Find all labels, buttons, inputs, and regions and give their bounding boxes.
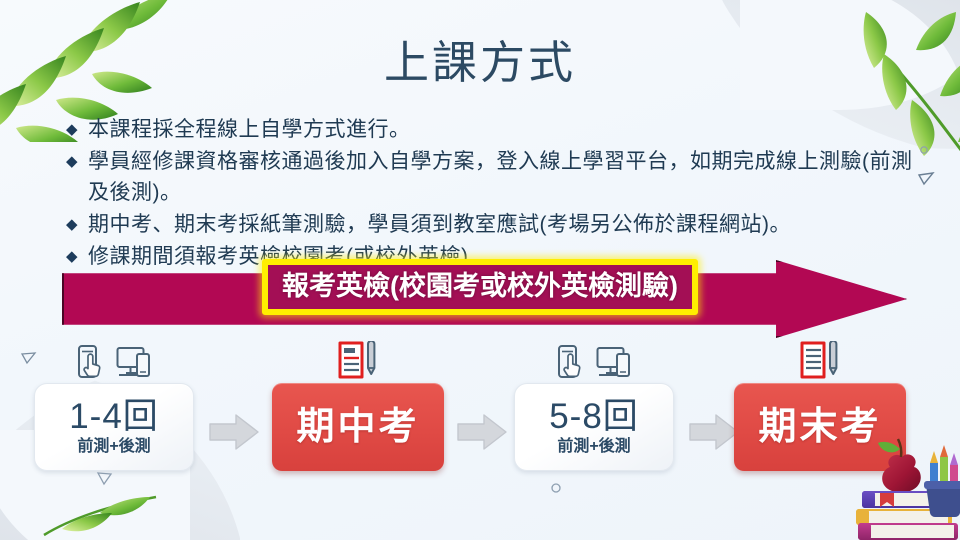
books-apple-pencils-illustration	[826, 423, 960, 540]
bullet-item-1: ◆ 本課程採全程線上自學方式進行。	[66, 114, 916, 145]
arrow-banner-label-box: 報考英檢(校園考或校外英檢測驗)	[262, 259, 698, 315]
bullet-list: ◆ 本課程採全程線上自學方式進行。 ◆ 學員經修課資格審核通過後加入自學方案，登…	[66, 114, 916, 273]
exam-icon-group	[272, 341, 444, 383]
device-icons-group	[34, 345, 194, 381]
desktop-tablet-icon	[116, 345, 152, 379]
step-sub-label: 前測+後測	[557, 437, 630, 457]
step-main-label: 5-8回	[549, 398, 639, 436]
bullet-diamond-icon: ◆	[66, 114, 88, 145]
step-main-label: 1-4回	[69, 398, 159, 436]
triangle-marker-right	[916, 168, 936, 193]
bullet-text: 期中考、期末考採紙筆測驗，學員須到教室應試(考場另公佈於課程網站)。	[88, 209, 916, 240]
bullet-text: 本課程採全程線上自學方式進行。	[88, 114, 916, 145]
bullet-text: 學員經修課資格審核通過後加入自學方案，登入線上學習平台，如期完成線上測驗(前測及…	[88, 146, 916, 208]
bullet-item-3: ◆ 期中考、期末考採紙筆測驗，學員須到教室應試(考場另公佈於課程網站)。	[66, 209, 916, 240]
step-connector-arrow-3	[688, 413, 740, 456]
step-connector-arrow-1	[208, 413, 260, 456]
desktop-tablet-icon	[596, 345, 632, 379]
page-title: 上課方式	[0, 40, 960, 85]
course-flow-steps: 1-4回 前測+後測	[0, 345, 960, 495]
exam-paper-pencil-icon	[337, 341, 379, 383]
mobile-touch-icon	[76, 345, 106, 381]
slide-canvas: 上課方式 ◆ 本課程採全程線上自學方式進行。 ◆ 學員經修課資格審核通過後加入自…	[0, 0, 960, 540]
arrow-banner-label-text: 報考英檢(校園考或校外英檢測驗)	[282, 271, 678, 301]
exam-icon-group	[734, 341, 906, 383]
bullet-item-2: ◆ 學員經修課資格審核通過後加入自學方案，登入線上學習平台，如期完成線上測驗(前…	[66, 146, 916, 208]
bullet-diamond-icon: ◆	[66, 209, 88, 240]
step-connector-arrow-2	[456, 413, 508, 456]
mobile-touch-icon	[556, 345, 586, 381]
step-box: 5-8回 前測+後測	[514, 383, 674, 471]
step-main-label: 期中考	[296, 406, 419, 448]
exam-registration-arrow-banner: 報考英檢(校園考或校外英檢測驗)	[62, 260, 907, 338]
step-box: 期中考	[272, 383, 444, 471]
bullet-diamond-icon: ◆	[66, 146, 88, 177]
step-sub-label: 前測+後測	[77, 437, 150, 457]
exam-paper-pencil-icon	[799, 341, 841, 383]
step-box: 1-4回 前測+後測	[34, 383, 194, 471]
device-icons-group	[514, 345, 674, 381]
